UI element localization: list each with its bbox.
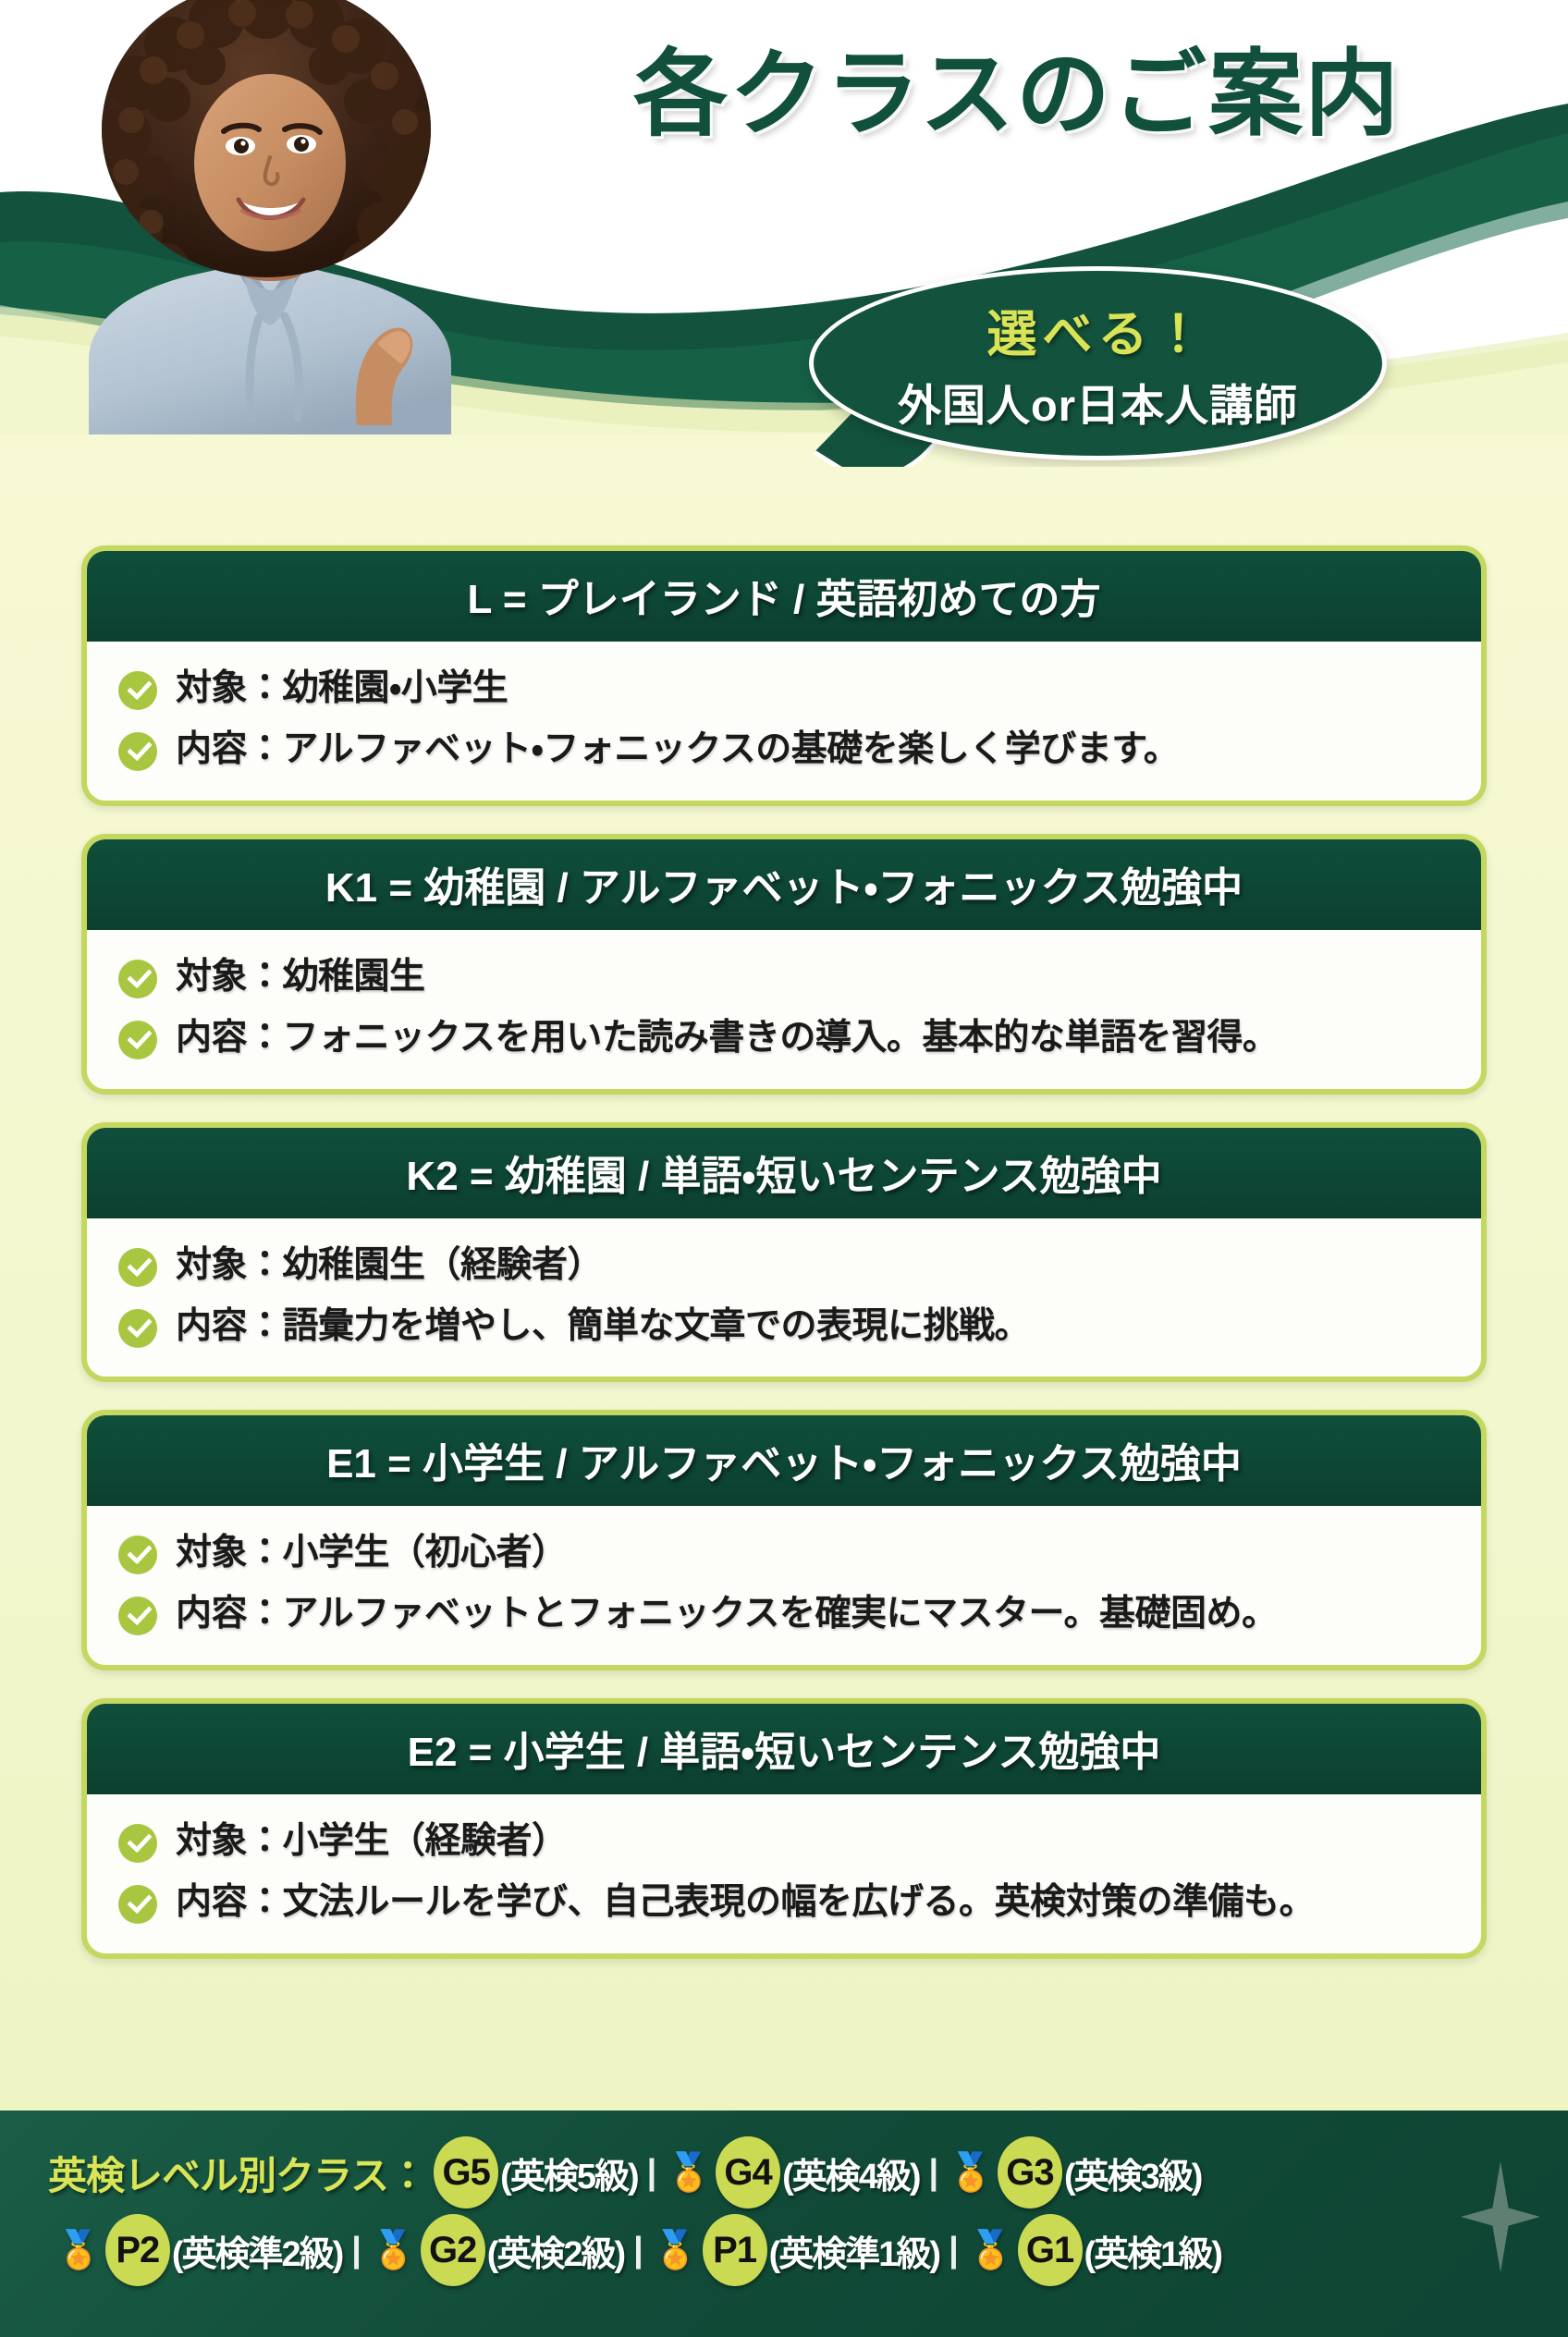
class-detail-row: 内容：アルファベット・フォニックスの基礎を楽しく学びます。 xyxy=(118,727,1450,773)
class-card-body: 対象：小学生（初心者）内容：アルファベットとフォニックスを確実にマスター。基礎固… xyxy=(87,1506,1481,1665)
class-card-heading: K2 = 幼稚園 / 単語・短いセンテンス勉強中 xyxy=(105,1143,1463,1202)
eiken-level-name: (英検2級) xyxy=(487,2225,624,2276)
class-card-body: 対象：幼稚園・小学生内容：アルファベット・フォニックスの基礎を楽しく学びます。 xyxy=(87,642,1481,801)
class-detail-text: 内容：アルファベット・フォニックスの基礎を楽しく学びます。 xyxy=(176,727,1179,773)
class-detail-row: 内容：文法ルールを学び、自己表現の幅を広げる。英検対策の準備も。 xyxy=(118,1879,1450,1926)
medal-icon: 🏅 xyxy=(55,2232,102,2269)
check-circle-icon xyxy=(118,732,157,771)
speech-bubble: 選べる！ 外国人or日本人講師 xyxy=(809,266,1387,460)
class-detail-row: 対象：幼稚園生（経験者） xyxy=(118,1242,1450,1289)
eiken-level-badge[interactable]: G5 xyxy=(434,2136,498,2209)
class-detail-text: 対象：幼稚園・小学生 xyxy=(176,666,508,712)
bubble-line-1: 選べる！ xyxy=(987,293,1209,366)
check-circle-icon xyxy=(118,1824,157,1863)
eiken-badges-row-1: G5(英検5級)|🏅G4(英検4級)|🏅G3(英検3級) xyxy=(434,2136,1201,2209)
check-circle-icon xyxy=(118,671,157,710)
check-circle-icon xyxy=(118,1885,157,1924)
badge-separator: | xyxy=(647,2153,657,2193)
class-detail-text: 内容：文法ルールを学び、自己表現の幅を広げる。英検対策の準備も。 xyxy=(176,1879,1315,1926)
eiken-level-name: (英検準2級) xyxy=(172,2225,342,2276)
eiken-level-name: (英検5級) xyxy=(500,2147,637,2198)
class-card-heading: E2 = 小学生 / 単語・短いセンテンス勉強中 xyxy=(105,1719,1463,1778)
class-detail-text: 対象：小学生（経験者） xyxy=(176,1818,568,1865)
eiken-row-1: 英検レベル別クラス： G5(英検5級)|🏅G4(英検4級)|🏅G3(英検3級) xyxy=(48,2136,1531,2209)
class-detail-row: 対象：小学生（経験者） xyxy=(118,1818,1450,1865)
medal-icon: 🏅 xyxy=(968,2232,1014,2269)
class-card: K2 = 幼稚園 / 単語・短いセンテンス勉強中対象：幼稚園生（経験者）内容：語… xyxy=(81,1122,1487,1383)
class-card: K1 = 幼稚園 / アルファベット・フォニックス勉強中対象：幼稚園生内容：フォ… xyxy=(81,834,1487,1095)
eiken-level-badge[interactable]: P1 xyxy=(703,2214,767,2286)
class-card-header: L = プレイランド / 英語初めての方 xyxy=(87,551,1481,642)
class-detail-row: 内容：フォニックスを用いた読み書きの導入。基本的な単語を習得。 xyxy=(118,1015,1450,1061)
class-detail-text: 内容：フォニックスを用いた読み書きの導入。基本的な単語を習得。 xyxy=(176,1015,1278,1061)
eiken-level-name: (英検3級) xyxy=(1064,2147,1201,2198)
bubble-line-2: 外国人or日本人講師 xyxy=(898,370,1298,434)
class-card-heading: E1 = 小学生 / アルファベット・フォニックス勉強中 xyxy=(105,1430,1463,1489)
eiken-row-2: 🏅P2(英検準2級)|🏅G2(英検2級)|🏅P1(英検準1級)|🏅G1(英検1級… xyxy=(48,2214,1531,2286)
class-card: E1 = 小学生 / アルファベット・フォニックス勉強中対象：小学生（初心者）内… xyxy=(81,1410,1487,1670)
class-card: L = プレイランド / 英語初めての方対象：幼稚園・小学生内容：アルファベット… xyxy=(81,545,1487,806)
eiken-level-name: (英検1級) xyxy=(1084,2225,1221,2276)
class-detail-row: 内容：語彙力を増やし、簡単な文章での表現に挑戦。 xyxy=(118,1303,1450,1350)
badge-separator: | xyxy=(929,2153,939,2193)
class-card-header: E1 = 小学生 / アルファベット・フォニックス勉強中 xyxy=(87,1415,1481,1506)
class-detail-text: 内容：語彙力を増やし、簡単な文章での表現に挑戦。 xyxy=(176,1303,1030,1350)
eiken-footer: 英検レベル別クラス： G5(英検5級)|🏅G4(英検4級)|🏅G3(英検3級) … xyxy=(0,2111,1568,2337)
class-detail-text: 対象：幼稚園生 xyxy=(176,954,425,1000)
eiken-level-name: (英検4級) xyxy=(782,2147,919,2198)
class-detail-text: 内容：アルファベットとフォニックスを確実にマスター。基礎固め。 xyxy=(176,1591,1278,1637)
class-card-heading: L = プレイランド / 英語初めての方 xyxy=(105,566,1463,625)
student-photo xyxy=(52,0,486,434)
eiken-label: 英検レベル別クラス： xyxy=(48,2145,426,2201)
eiken-level-badge[interactable]: G1 xyxy=(1018,2214,1083,2286)
check-circle-icon xyxy=(118,1536,157,1574)
class-detail-row: 対象：幼稚園・小学生 xyxy=(118,666,1450,712)
class-detail-text: 対象：幼稚園生（経験者） xyxy=(176,1242,603,1289)
class-detail-text: 対象：小学生（初心者） xyxy=(176,1530,568,1576)
class-card-body: 対象：幼稚園生内容：フォニックスを用いた読み書きの導入。基本的な単語を習得。 xyxy=(87,930,1481,1089)
class-card-body: 対象：小学生（経験者）内容：文法ルールを学び、自己表現の幅を広げる。英検対策の準… xyxy=(87,1794,1481,1953)
main-content: L = プレイランド / 英語初めての方対象：幼稚園・小学生内容：アルファベット… xyxy=(0,434,1568,2126)
class-detail-row: 対象：幼稚園生 xyxy=(118,954,1450,1000)
class-card-body: 対象：幼稚園生（経験者）内容：語彙力を増やし、簡単な文章での表現に挑戦。 xyxy=(87,1218,1481,1377)
class-card-header: K2 = 幼稚園 / 単語・短いセンテンス勉強中 xyxy=(87,1128,1481,1218)
class-card: E2 = 小学生 / 単語・短いセンテンス勉強中対象：小学生（経験者）内容：文法… xyxy=(81,1698,1487,1959)
poster-root: 各クラスのご案内 選べる！ 外国人or日本人講師 L = プレイランド / 英語… xyxy=(0,0,1568,2337)
medal-icon: 🏅 xyxy=(371,2232,417,2269)
check-circle-icon xyxy=(118,960,157,998)
eiken-level-name: (英検準1級) xyxy=(769,2225,939,2276)
check-circle-icon xyxy=(118,1248,157,1287)
eiken-level-badge[interactable]: G3 xyxy=(998,2136,1062,2209)
class-detail-row: 内容：アルファベットとフォニックスを確実にマスター。基礎固め。 xyxy=(118,1591,1450,1637)
class-card-heading: K1 = 幼稚園 / アルファベット・フォニックス勉強中 xyxy=(105,854,1463,913)
badge-separator: | xyxy=(351,2231,361,2270)
check-circle-icon xyxy=(118,1021,157,1059)
eiken-badges-row-2: 🏅P2(英検準2級)|🏅G2(英検2級)|🏅P1(英検準1級)|🏅G1(英検1級… xyxy=(55,2214,1221,2286)
check-circle-icon xyxy=(118,1309,157,1348)
class-detail-row: 対象：小学生（初心者） xyxy=(118,1530,1450,1576)
medal-icon: 🏅 xyxy=(948,2154,994,2191)
check-circle-icon xyxy=(118,1597,157,1635)
header-banner: 各クラスのご案内 選べる！ 外国人or日本人講師 xyxy=(0,0,1568,467)
eiken-level-badge[interactable]: G2 xyxy=(421,2214,485,2286)
badge-separator: | xyxy=(949,2231,959,2270)
class-card-header: E2 = 小学生 / 単語・短いセンテンス勉強中 xyxy=(87,1704,1481,1794)
class-card-list: L = プレイランド / 英語初めての方対象：幼稚園・小学生内容：アルファベット… xyxy=(0,545,1568,1987)
eiken-level-badge[interactable]: P2 xyxy=(105,2214,170,2286)
badge-separator: | xyxy=(633,2231,643,2270)
medal-icon: 🏅 xyxy=(653,2232,699,2269)
page-title: 各クラスのご案内 xyxy=(499,39,1535,150)
medal-icon: 🏅 xyxy=(666,2154,712,2191)
class-card-header: K1 = 幼稚園 / アルファベット・フォニックス勉強中 xyxy=(87,839,1481,930)
eiken-level-badge[interactable]: G4 xyxy=(716,2136,780,2209)
